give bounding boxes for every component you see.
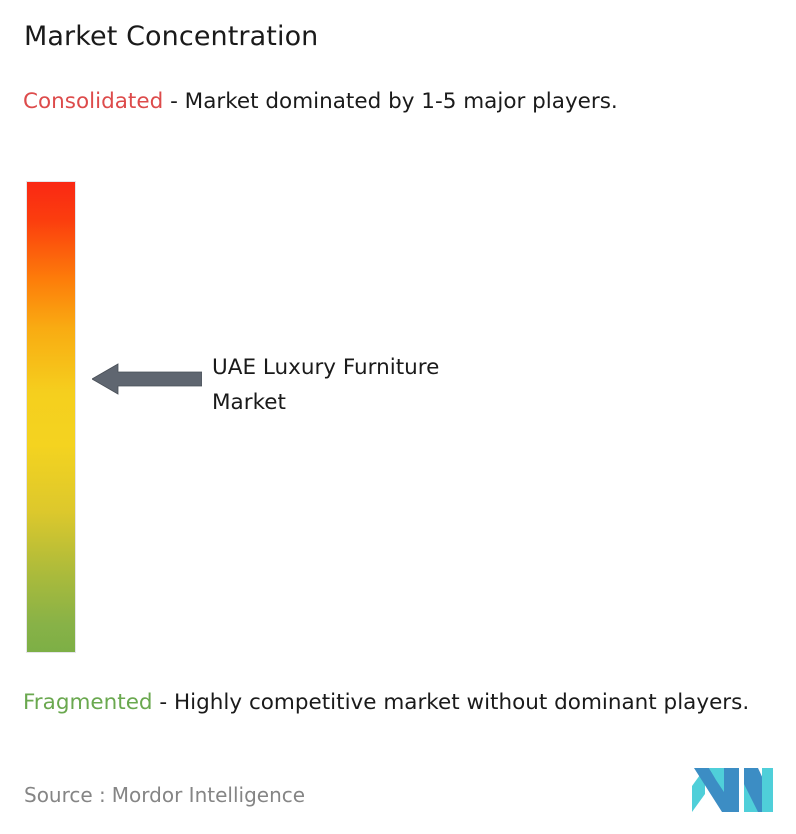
source-attribution: Source :Mordor Intelligence xyxy=(24,781,305,809)
mordor-intelligence-logo xyxy=(692,766,776,814)
page-title: Market Concentration xyxy=(24,20,318,54)
consolidated-legend: Consolidated - Market dominated by 1-5 m… xyxy=(23,86,775,117)
consolidated-keyword: Consolidated xyxy=(23,89,163,114)
fragmented-separator: - xyxy=(153,690,174,715)
source-label: Source : xyxy=(24,783,106,807)
fragmented-description: Highly competitive market without domina… xyxy=(174,690,749,715)
fragmented-keyword: Fragmented xyxy=(23,690,153,715)
market-annotation-label-line2: Market xyxy=(212,385,572,420)
fragmented-legend: Fragmented - Highly competitive market w… xyxy=(23,687,788,718)
consolidated-separator: - xyxy=(163,89,184,114)
arrow-left-icon xyxy=(92,362,202,396)
market-annotation-label-line1: UAE Luxury Furniture xyxy=(212,350,572,385)
source-organization: Mordor Intelligence xyxy=(112,783,305,807)
consolidated-description: Market dominated by 1-5 major players. xyxy=(185,89,618,114)
market-annotation-label: UAE Luxury Furniture Market xyxy=(212,350,572,420)
concentration-gradient-scale xyxy=(27,182,75,652)
